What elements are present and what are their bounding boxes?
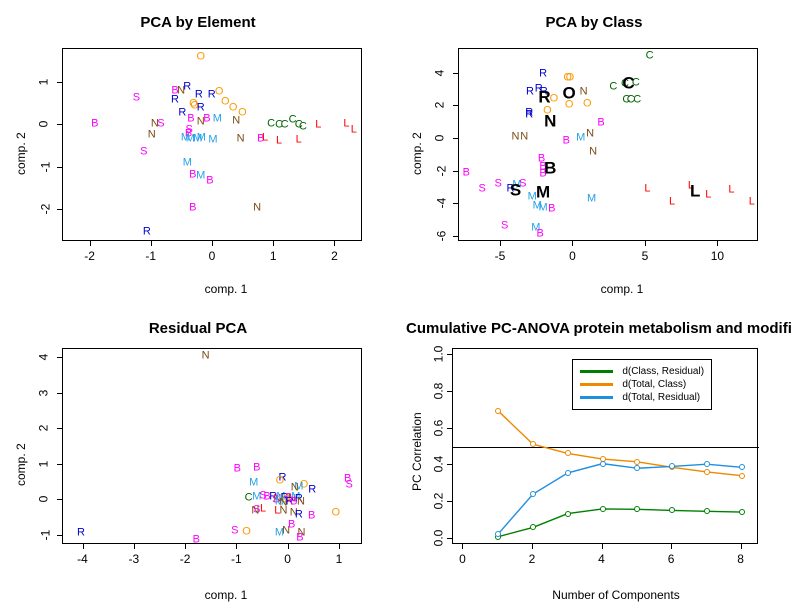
y-tick — [57, 357, 62, 358]
data-point-R: R — [143, 227, 151, 238]
data-point-R: R — [526, 86, 534, 97]
y-tick — [57, 393, 62, 394]
data-point-L: L — [749, 196, 755, 207]
x-tick-label: 10 — [711, 249, 724, 263]
y-tick-label: 3 — [36, 389, 50, 396]
data-point-M: M — [213, 113, 222, 124]
y-tick — [57, 499, 62, 500]
y-tick — [57, 535, 62, 536]
panel1-title: PCA by Element — [0, 14, 396, 31]
y-tick-label: -6 — [434, 231, 448, 242]
data-point-M: M — [587, 193, 596, 204]
panel2-point-layer: CROOCCCRRRNCCCOOORROBNNBMNNBBBBSMSSRMMMM… — [459, 49, 757, 240]
legend-swatch — [580, 370, 613, 373]
y-tick — [447, 354, 452, 355]
series-marker — [495, 408, 501, 414]
y-tick — [453, 73, 458, 74]
series-marker — [704, 508, 710, 514]
data-point-L: L — [260, 504, 266, 515]
data-point-B: B — [597, 118, 604, 129]
panel2-ylabel: comp. 2 — [410, 132, 424, 175]
data-point-R: R — [171, 94, 179, 105]
data-point-L: L — [351, 124, 357, 135]
series-marker — [704, 469, 710, 475]
panel-pca-by-element: PCA by Element OBNRRROSROOROOORBNSBNBMNC… — [0, 0, 396, 305]
class-centroid-L: L — [690, 183, 700, 200]
series-marker — [600, 506, 606, 512]
data-point-L: L — [705, 190, 711, 201]
series-marker — [565, 450, 571, 456]
y-tick-label: 2 — [36, 425, 50, 432]
x-tick-label: 2 — [331, 249, 338, 263]
data-point-N: N — [202, 351, 210, 362]
data-point-O: O — [583, 98, 592, 109]
y-tick-label: 0.0 — [431, 530, 445, 547]
class-centroid-O: O — [563, 85, 576, 102]
x-tick-label: 5 — [642, 249, 649, 263]
x-tick-label: -2 — [180, 552, 191, 566]
data-point-L: L — [644, 183, 650, 194]
panel3-xlabel: comp. 1 — [0, 588, 424, 602]
data-point-O: O — [242, 526, 251, 537]
data-point-M: M — [183, 157, 192, 168]
data-point-M: M — [538, 203, 547, 214]
x-tick — [500, 241, 501, 246]
panel1-plot-area: OBNRRROSROOROOORBNSBNBMNCCCCCCLLLSBNMMMM… — [62, 48, 362, 241]
y-tick — [447, 464, 452, 465]
data-point-O: O — [196, 52, 205, 63]
series-marker — [600, 461, 606, 467]
data-point-L: L — [262, 133, 268, 144]
data-point-S: S — [494, 178, 501, 189]
series-marker — [634, 459, 640, 465]
panel3-ylabel: comp. 2 — [14, 443, 28, 486]
data-point-R: R — [197, 102, 205, 113]
x-tick-label: 4 — [598, 552, 605, 566]
panel-residual-pca: Residual PCA NBBBSMROOMNRCMSBRNMRBNMROSM… — [0, 306, 396, 611]
legend-swatch — [580, 396, 613, 399]
class-centroid-S: S — [510, 181, 521, 198]
x-tick — [185, 544, 186, 549]
data-point-N: N — [237, 134, 245, 145]
series-marker — [669, 463, 675, 469]
y-tick — [447, 428, 452, 429]
y-tick-label: -1 — [38, 161, 52, 172]
x-tick-label: -1 — [145, 249, 156, 263]
panel4-legend: d(Class, Residual)d(Total, Class)d(Total… — [572, 359, 712, 410]
data-point-R: R — [308, 484, 316, 495]
x-tick-label: 0 — [569, 249, 576, 263]
y-tick — [453, 138, 458, 139]
data-point-L: L — [343, 119, 349, 130]
data-point-N: N — [232, 116, 240, 127]
data-point-S: S — [479, 183, 486, 194]
data-point-C: C — [299, 121, 307, 132]
data-point-O: O — [332, 507, 341, 518]
data-point-B: B — [206, 176, 213, 187]
data-point-O: O — [550, 93, 559, 104]
x-tick — [83, 544, 84, 549]
data-point-C: C — [281, 120, 289, 131]
data-point-L: L — [315, 119, 321, 130]
series-marker — [634, 465, 640, 471]
data-point-N: N — [512, 132, 520, 143]
data-point-R: R — [525, 110, 533, 121]
y-tick — [453, 203, 458, 204]
data-point-N: N — [253, 203, 261, 214]
data-point-B: B — [288, 520, 295, 531]
panel1-ylabel: comp. 2 — [14, 132, 28, 175]
data-point-R: R — [295, 510, 303, 521]
y-tick — [57, 82, 62, 83]
y-tick — [57, 124, 62, 125]
legend-item-2: d(Total, Residual) — [580, 391, 704, 404]
data-point-N: N — [280, 506, 288, 517]
y-tick-label: 0 — [36, 121, 50, 128]
class-centroid-N: N — [544, 112, 556, 129]
data-point-M: M — [208, 135, 217, 146]
y-tick-label: 0.8 — [431, 382, 445, 399]
data-point-B: B — [563, 135, 570, 146]
y-tick — [57, 167, 62, 168]
y-tick-label: 0 — [432, 135, 446, 142]
data-point-R: R — [178, 108, 186, 119]
data-point-N: N — [520, 132, 528, 143]
y-tick-label: -2 — [38, 204, 52, 215]
data-point-B: B — [296, 532, 303, 543]
series-marker — [634, 506, 640, 512]
data-point-S: S — [157, 119, 164, 130]
legend-label: d(Total, Class) — [622, 379, 686, 390]
class-centroid-M: M — [536, 184, 550, 201]
x-tick — [602, 544, 603, 549]
data-point-B: B — [189, 203, 196, 214]
x-tick — [90, 241, 91, 246]
x-tick — [273, 241, 274, 246]
data-point-L: L — [728, 184, 734, 195]
x-tick — [288, 544, 289, 549]
x-tick — [134, 544, 135, 549]
x-tick-label: 0 — [284, 552, 291, 566]
panel4-xlabel: Number of Components — [396, 588, 792, 602]
series-marker — [565, 511, 571, 517]
y-tick-label: 0 — [36, 496, 50, 503]
x-tick-label: 1 — [270, 249, 277, 263]
series-marker — [739, 464, 745, 470]
data-point-C: C — [646, 50, 654, 61]
y-tick — [447, 538, 452, 539]
data-point-L: L — [276, 136, 282, 147]
y-tick-label: 1 — [36, 79, 50, 86]
series-marker — [565, 470, 571, 476]
data-point-N: N — [148, 130, 156, 141]
panel1-xlabel: comp. 1 — [0, 282, 424, 296]
data-point-C: C — [609, 81, 617, 92]
data-point-N: N — [580, 87, 588, 98]
x-tick — [334, 241, 335, 246]
data-point-S: S — [501, 220, 508, 231]
x-tick — [717, 241, 718, 246]
x-tick-label: 6 — [668, 552, 675, 566]
data-point-R: R — [183, 82, 191, 93]
x-tick-label: 0 — [209, 249, 216, 263]
y-tick — [57, 464, 62, 465]
series-marker — [739, 473, 745, 479]
y-tick-label: 0.6 — [431, 419, 445, 436]
data-point-C: C — [267, 118, 275, 129]
data-point-B: B — [536, 228, 543, 239]
y-tick-label: 1.0 — [431, 345, 445, 362]
y-tick — [57, 428, 62, 429]
data-point-S: S — [231, 525, 238, 536]
data-point-M: M — [197, 133, 206, 144]
y-tick — [453, 171, 458, 172]
x-tick — [236, 544, 237, 549]
data-point-B: B — [548, 204, 555, 215]
series-marker — [530, 441, 536, 447]
y-tick — [447, 391, 452, 392]
data-point-M: M — [576, 133, 585, 144]
panel1-point-layer: OBNRRROSROOROOORBNSBNBMNCCCCCCLLLSBNMMMM… — [63, 49, 361, 240]
panel3-title: Residual PCA — [0, 320, 396, 337]
data-point-B: B — [203, 113, 210, 124]
data-point-N: N — [589, 147, 597, 158]
panel4-plot-area: d(Class, Residual)d(Total, Class)d(Total… — [452, 348, 758, 544]
panel4-title: Cumulative PC-ANOVA protein metabolism a… — [406, 320, 792, 337]
data-point-B: B — [193, 534, 200, 545]
y-tick-label: 4 — [36, 354, 50, 361]
data-point-L: L — [669, 196, 675, 207]
y-tick-label: 1 — [36, 460, 50, 467]
data-point-O: O — [229, 102, 238, 113]
data-point-N: N — [251, 506, 259, 517]
x-tick — [462, 544, 463, 549]
x-tick — [645, 241, 646, 246]
data-point-S: S — [133, 92, 140, 103]
y-tick-label: -4 — [434, 198, 448, 209]
legend-label: d(Total, Residual) — [622, 392, 700, 403]
panel4-ylabel: PC Correlation — [410, 412, 424, 491]
x-tick — [339, 544, 340, 549]
x-tick — [532, 544, 533, 549]
panel2-title: PCA by Class — [396, 14, 792, 31]
series-marker — [669, 507, 675, 513]
y-tick-label: -2 — [434, 165, 448, 176]
data-point-S: S — [345, 480, 352, 491]
x-tick-label: -1 — [231, 552, 242, 566]
legend-label: d(Class, Residual) — [622, 366, 704, 377]
x-tick — [212, 241, 213, 246]
x-tick-label: -5 — [495, 249, 506, 263]
data-point-S: S — [140, 146, 147, 157]
data-point-C: C — [633, 94, 641, 105]
data-point-N: N — [297, 497, 305, 508]
y-tick-label: 0.2 — [431, 493, 445, 510]
x-tick-label: 8 — [737, 552, 744, 566]
y-tick-label: 4 — [432, 69, 446, 76]
panel3-plot-area: NBBBSMROOMNRCMSBRNMRBNMROSMNRBNSNLLNNRBO… — [62, 348, 362, 544]
series-marker — [739, 509, 745, 515]
y-tick-label: 0.4 — [431, 456, 445, 473]
data-point-B: B — [91, 119, 98, 130]
x-tick — [671, 544, 672, 549]
legend-item-1: d(Total, Class) — [580, 378, 704, 391]
series-marker — [530, 491, 536, 497]
series-marker — [704, 461, 710, 467]
data-point-O: O — [566, 72, 575, 83]
data-point-M: M — [196, 171, 205, 182]
panel3-point-layer: NBBBSMROOMNRCMSBRNMRBNMROSMNRBNSNLLNNRBO… — [63, 349, 361, 543]
data-point-L: L — [296, 135, 302, 146]
x-tick-label: -4 — [77, 552, 88, 566]
y-tick-label: 2 — [432, 102, 446, 109]
data-point-B: B — [234, 464, 241, 475]
data-point-B: B — [253, 463, 260, 474]
data-point-B: B — [463, 168, 470, 179]
y-tick — [453, 236, 458, 237]
panel2-xlabel: comp. 1 — [396, 282, 792, 296]
data-point-B: B — [308, 511, 315, 522]
data-point-R: R — [539, 69, 547, 80]
data-point-N: N — [586, 129, 594, 140]
class-centroid-R: R — [538, 89, 550, 106]
x-tick-label: 0 — [459, 552, 466, 566]
x-tick-label: 2 — [529, 552, 536, 566]
panel-cumulative-pc-anova: Cumulative PC-ANOVA protein metabolism a… — [396, 306, 792, 611]
panel2-plot-area: CROOCCCRRRNCCCOOORROBNNBMNNBBBBSMSSRMMMM… — [458, 48, 758, 241]
y-tick — [453, 105, 458, 106]
series-marker — [530, 524, 536, 530]
x-tick — [151, 241, 152, 246]
class-centroid-C: C — [622, 74, 634, 91]
y-tick — [447, 501, 452, 502]
legend-swatch — [580, 383, 613, 386]
y-tick-label: -1 — [38, 530, 52, 541]
series-marker — [495, 531, 501, 537]
legend-item-0: d(Class, Residual) — [580, 365, 704, 378]
x-tick-label: -2 — [84, 249, 95, 263]
panel-pca-by-class: PCA by Class CROOCCCRRRNCCCOOORROBNNBMNN… — [396, 0, 792, 305]
x-tick-label: -3 — [128, 552, 139, 566]
x-tick — [572, 241, 573, 246]
data-point-R: R — [77, 527, 85, 538]
data-point-O: O — [276, 475, 285, 486]
x-tick-label: 1 — [336, 552, 343, 566]
class-centroid-B: B — [544, 159, 556, 176]
data-point-M: M — [249, 477, 258, 488]
y-tick — [57, 209, 62, 210]
x-tick — [741, 544, 742, 549]
